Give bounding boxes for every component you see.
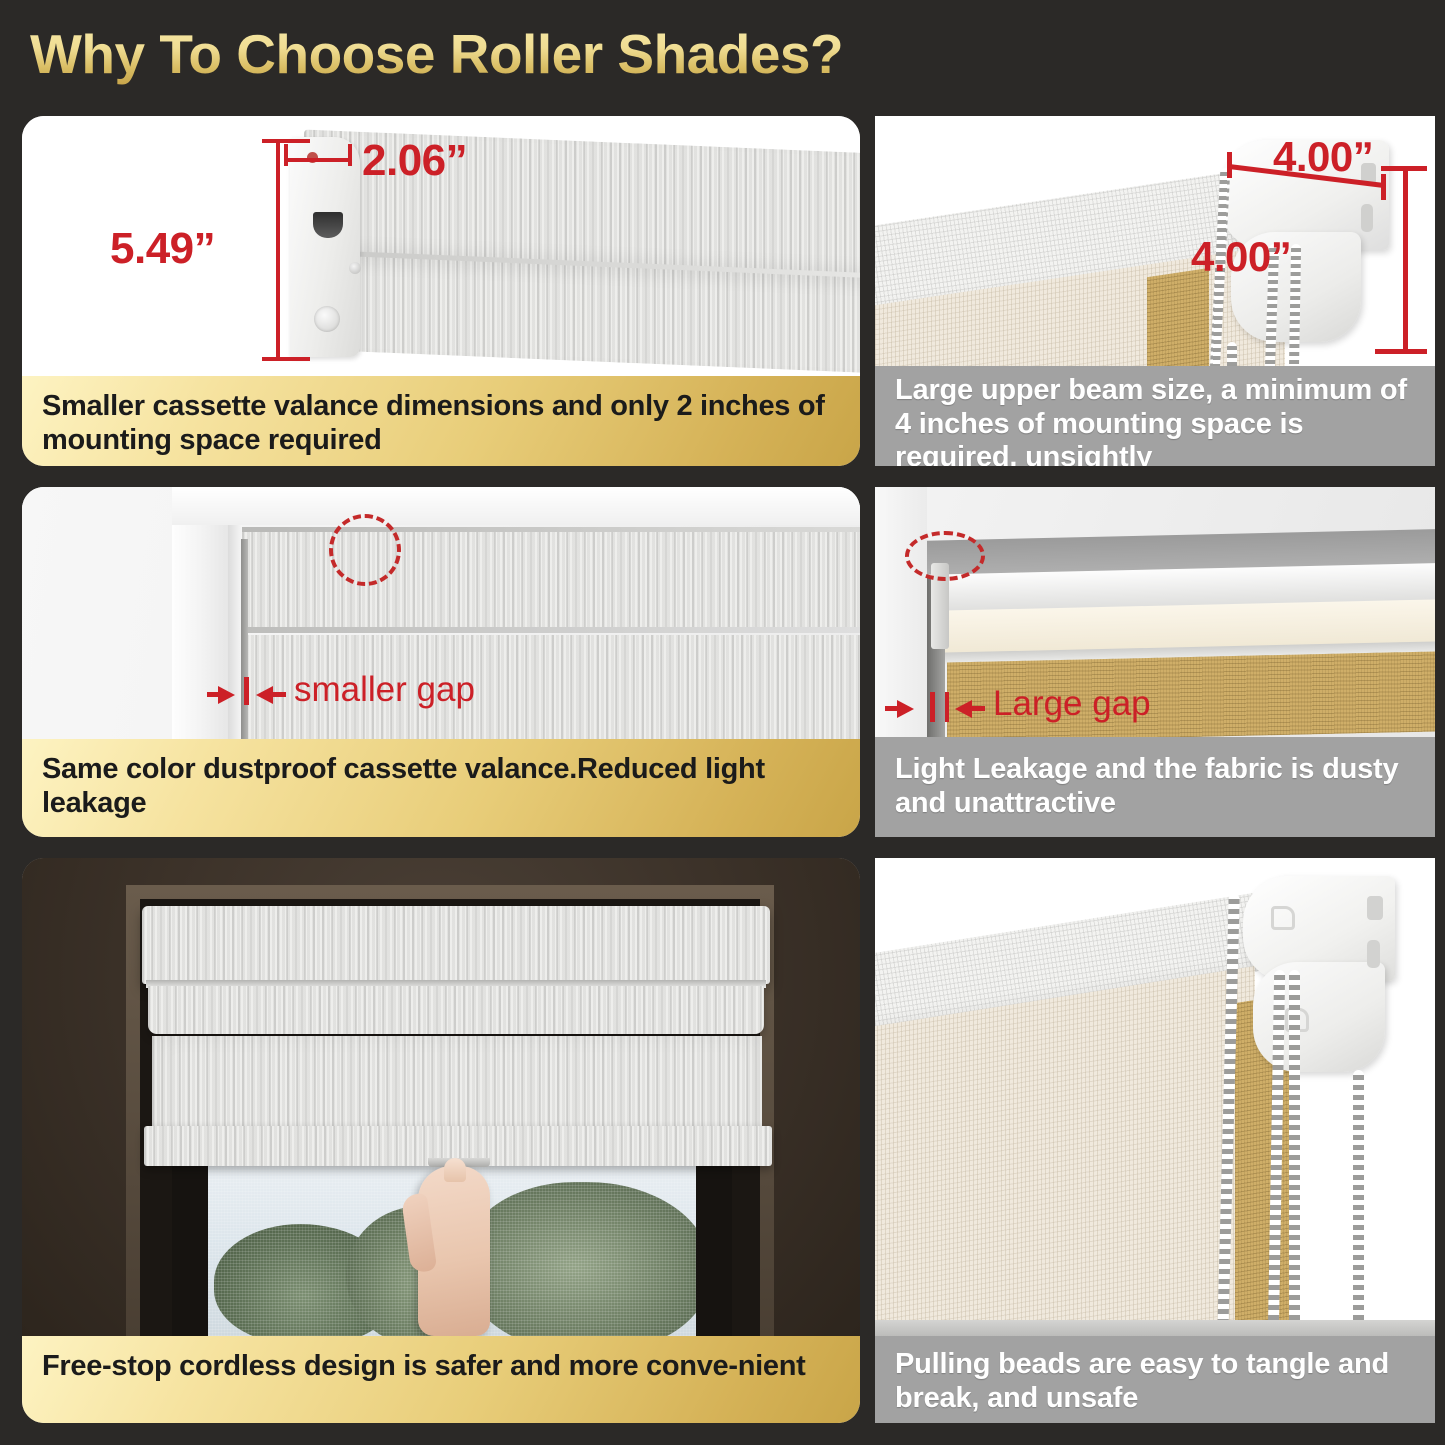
fingertip <box>444 1158 466 1182</box>
panel-top-right-caption-text: Large upper beam size, a minimum of 4 in… <box>895 374 1415 466</box>
panel-bottom-right-caption-text: Pulling beads are easy to tangle and bre… <box>895 1348 1415 1415</box>
bead-chain-3 <box>1289 970 1300 1336</box>
shade-fabric-tan <box>1147 268 1209 374</box>
height-dimension-label: 5.49” <box>110 224 215 274</box>
width-dimension-line <box>284 158 352 162</box>
gap-arrow-right-stem <box>885 706 899 711</box>
panel-middle-right-caption: Light Leakage and the fabric is dusty an… <box>875 737 1435 837</box>
gap-arrow-right-stem <box>207 692 220 697</box>
panel-top-left-caption-text: Smaller cassette valance dimensions and … <box>42 390 840 457</box>
bracket-mount-slot-top-icon <box>1367 896 1383 920</box>
window-frame-top <box>172 487 860 525</box>
beam-height-dimension-label: 4.00” <box>1191 233 1291 281</box>
panel-bottom-left-caption: Free-stop cordless design is safer and m… <box>22 1336 860 1423</box>
light-gap-sliver <box>241 539 248 739</box>
panel-top-left-caption: Smaller cassette valance dimensions and … <box>22 376 860 466</box>
highlight-circle-icon <box>905 531 985 581</box>
width-dimension-tick-left <box>284 144 288 166</box>
gap-marker-bar <box>244 677 249 705</box>
bracket-logo-upper-icon <box>1271 906 1295 930</box>
gap-arrow-right-icon <box>218 686 235 704</box>
valance-lower-lip <box>148 986 764 1034</box>
height-dimension-tick-bottom <box>262 357 310 361</box>
width-dimension-tick-right <box>348 144 352 166</box>
gap-arrow-left-icon <box>955 700 972 718</box>
highlight-circle-icon <box>329 514 401 586</box>
gap-arrow-left-icon <box>256 686 273 704</box>
height-dimension-line <box>276 139 280 361</box>
bracket-slot-icon <box>313 212 343 238</box>
shade-fabric-cream <box>875 966 1255 1336</box>
width-dimension-label: 2.06” <box>362 136 467 186</box>
gap-arrow-left-stem <box>272 692 286 697</box>
gap-arrow-right-icon <box>897 700 914 718</box>
panel-middle-left-caption-text: Same color dustproof cassette valance.Re… <box>42 753 840 820</box>
window-mullion-left <box>172 1158 208 1336</box>
window-mullion-right <box>696 1158 732 1336</box>
beam-height-tick-bottom <box>1375 349 1427 354</box>
valance-seam <box>244 627 860 633</box>
panel-bottom-right-caption: Pulling beads are easy to tangle and bre… <box>875 1336 1435 1423</box>
panel-middle-left-image: smaller gap <box>22 487 860 739</box>
beam-width-tick-right <box>1381 174 1386 200</box>
panel-top-right-image: 4.00” 4.00” <box>875 116 1435 374</box>
height-dimension-tick-top <box>262 139 310 143</box>
bracket-mount-slot-bottom-icon <box>1361 204 1373 232</box>
surface-shadow <box>875 1320 1435 1336</box>
gap-marker-bar-left <box>930 692 935 722</box>
beam-height-dimension-line <box>1403 166 1408 354</box>
large-gap-label: Large gap <box>993 684 1151 724</box>
panel-middle-left: smaller gap Same color dustproof cassett… <box>22 487 860 837</box>
panel-top-right-caption: Large upper beam size, a minimum of 4 in… <box>875 366 1435 466</box>
panel-bottom-right-image <box>875 858 1435 1336</box>
bracket-screw-mid-icon <box>349 262 361 274</box>
gap-marker-bar-right <box>945 692 949 722</box>
page-title: Why To Choose Roller Shades? <box>30 22 843 86</box>
panel-middle-right-image: Large gap <box>875 487 1435 737</box>
panel-bottom-left: Free-stop cordless design is safer and m… <box>22 858 860 1423</box>
gap-arrow-left-stem <box>971 706 985 711</box>
beam-width-dimension-label: 4.00” <box>1273 133 1373 181</box>
panel-bottom-left-caption-text: Free-stop cordless design is safer and m… <box>42 1350 806 1384</box>
panel-middle-right-caption-text: Light Leakage and the fabric is dusty an… <box>895 753 1415 820</box>
smaller-gap-label: smaller gap <box>294 670 475 710</box>
panel-bottom-right: Pulling beads are easy to tangle and bre… <box>875 858 1435 1423</box>
bracket-mount-slot-bottom-icon <box>1367 940 1380 968</box>
panel-bottom-left-image <box>22 858 860 1336</box>
page-header: Why To Choose Roller Shades? <box>0 0 1445 108</box>
panel-middle-left-caption: Same color dustproof cassette valance.Re… <box>22 739 860 837</box>
beam-height-tick-top <box>1381 166 1427 171</box>
panel-top-left-image: 2.06” 5.49” <box>22 116 860 376</box>
cassette-valance <box>142 906 770 984</box>
panel-top-left: 2.06” 5.49” Smaller cassette valance dim… <box>22 116 860 466</box>
bracket-screw-lower-icon <box>314 306 340 332</box>
panel-top-right: 4.00” 4.00” Large upper beam size, a min… <box>875 116 1435 466</box>
beam-width-tick-left <box>1227 152 1232 178</box>
bead-chain-4 <box>1353 1070 1364 1336</box>
panel-middle-right: Large gap Light Leakage and the fabric i… <box>875 487 1435 837</box>
